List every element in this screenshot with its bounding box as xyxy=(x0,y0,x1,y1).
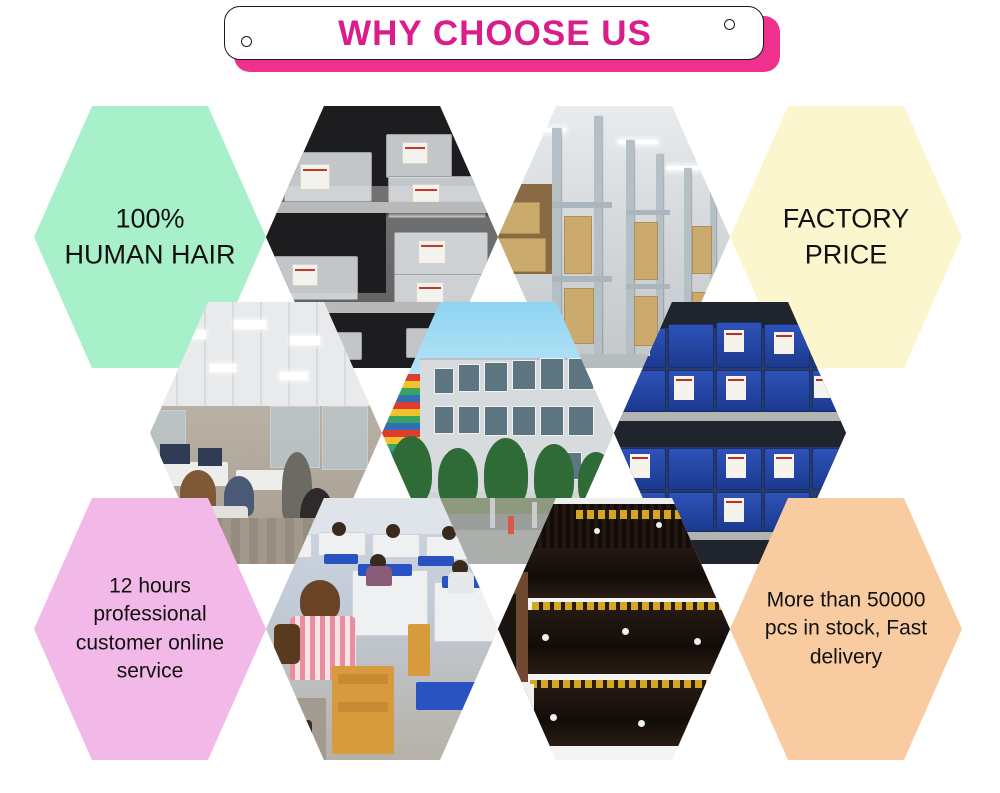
hex-line: customer online xyxy=(48,629,252,657)
hex-line: delivery xyxy=(744,643,948,671)
hex-line: HUMAN HAIR xyxy=(48,237,252,273)
hex-label-factory-price: FACTORY PRICE xyxy=(744,201,948,274)
page-title: WHY CHOOSE US xyxy=(225,7,765,61)
hex-label-customer-service: 12 hours professional customer online se… xyxy=(48,572,252,685)
banner-face: WHY CHOOSE US xyxy=(224,6,764,60)
hex-line: More than 50000 xyxy=(744,586,948,614)
banner-hole-icon-top-right xyxy=(724,19,735,30)
hex-line: PRICE xyxy=(744,237,948,273)
hex-line: 100% xyxy=(48,201,252,237)
header-banner: WHY CHOOSE US xyxy=(224,6,780,72)
hex-line: pcs in stock, Fast xyxy=(744,615,948,643)
honeycomb-grid: 100% HUMAN HAIR xyxy=(0,78,1000,793)
hex-line: FACTORY xyxy=(744,201,948,237)
banner-hole-icon-bottom-left xyxy=(241,36,252,47)
hex-line: service xyxy=(48,657,252,685)
hex-label-fast-delivery: More than 50000 pcs in stock, Fast deliv… xyxy=(744,586,948,671)
hex-line: 12 hours xyxy=(48,572,252,600)
hex-label-human-hair: 100% HUMAN HAIR xyxy=(48,201,252,274)
hex-line: professional xyxy=(48,601,252,629)
